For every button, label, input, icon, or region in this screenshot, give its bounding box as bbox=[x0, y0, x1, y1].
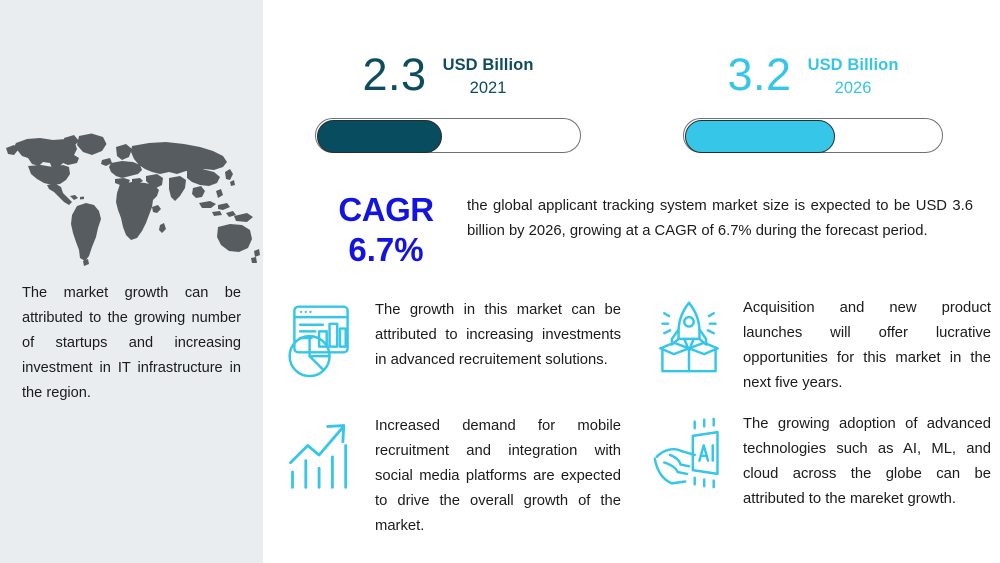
feature-text: Acquisition and new product launches wil… bbox=[743, 294, 991, 396]
metric-card-2026: 3.2 USD Billion 2026 bbox=[683, 48, 943, 153]
metric-progress-track bbox=[683, 118, 943, 153]
metric-unit-group: USD Billion 2026 bbox=[808, 48, 899, 100]
metric-progress-fill bbox=[685, 120, 835, 153]
world-map-icon bbox=[4, 132, 262, 272]
region-caption: The market growth can be attributed to t… bbox=[22, 281, 241, 406]
cagr-value: 6.7% bbox=[330, 230, 442, 270]
feature-text: The growth in this market can be attribu… bbox=[375, 296, 621, 373]
metric-card-2021: 2.3 USD Billion 2021 bbox=[315, 48, 581, 153]
metric-unit-label: USD Billion bbox=[443, 54, 534, 76]
rocket-box-launch-icon bbox=[651, 294, 727, 380]
metric-value: 2.3 bbox=[363, 48, 427, 102]
metric-header: 2.3 USD Billion 2021 bbox=[315, 48, 581, 110]
left-region-panel: The market growth can be attributed to t… bbox=[0, 0, 263, 563]
infographic-root: The market growth can be attributed to t… bbox=[0, 0, 1000, 563]
growth-arrow-bar-chart-icon bbox=[283, 412, 359, 498]
feature-text: Increased demand for mobile recruitment … bbox=[375, 412, 621, 539]
feature-item: Increased demand for mobile recruitment … bbox=[283, 412, 635, 539]
hand-touch-ai-panel-icon bbox=[651, 410, 727, 496]
metric-progress-track bbox=[315, 118, 581, 153]
metric-header: 3.2 USD Billion 2026 bbox=[683, 48, 943, 110]
feature-item: The growth in this market can be attribu… bbox=[283, 296, 635, 382]
feature-item: Acquisition and new product launches wil… bbox=[651, 294, 991, 396]
metric-progress-fill bbox=[317, 120, 442, 153]
cagr-badge: CAGR 6.7% bbox=[330, 190, 442, 270]
metric-value: 3.2 bbox=[728, 48, 792, 102]
metric-unit-label: USD Billion bbox=[808, 54, 899, 76]
cagr-description: the global applicant tracking system mar… bbox=[467, 194, 973, 244]
feature-item: The growing adoption of advanced technol… bbox=[651, 410, 991, 512]
metric-year: 2026 bbox=[808, 76, 899, 100]
cagr-label: CAGR bbox=[330, 190, 442, 230]
feature-text: The growing adoption of advanced technol… bbox=[743, 410, 991, 512]
metric-unit-group: USD Billion 2021 bbox=[443, 48, 534, 100]
metric-year: 2021 bbox=[443, 76, 534, 100]
dashboard-pie-chart-icon bbox=[283, 296, 359, 382]
